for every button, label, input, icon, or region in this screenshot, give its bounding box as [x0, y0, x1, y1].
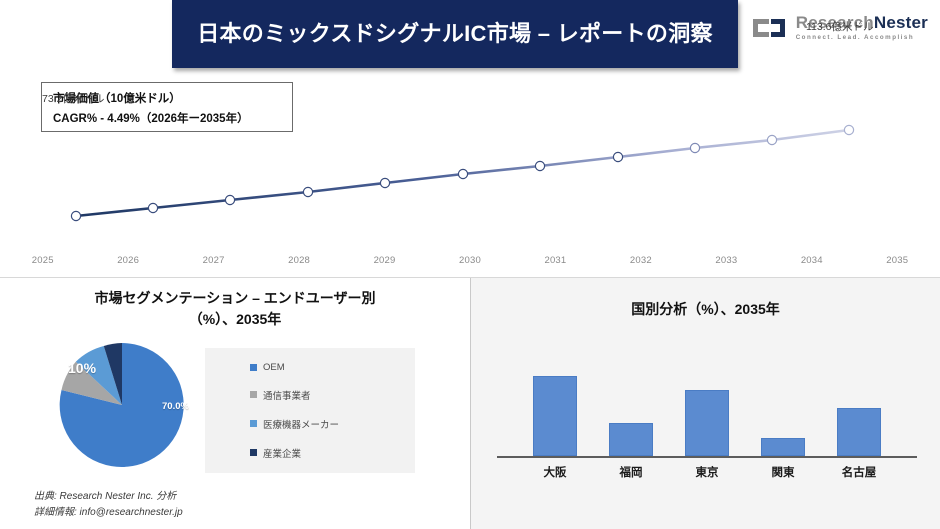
segmentation-title-line1: 市場セグメンテーション – エンドユーザー別: [30, 288, 440, 309]
bar-chart-baseline: [497, 456, 917, 458]
legend-swatch-icon: [250, 364, 257, 371]
pie-label-oem: 70.0%: [162, 401, 189, 412]
axis-year: 2033: [684, 255, 769, 266]
legend-label: 通信事業者: [263, 388, 311, 402]
line-markers: [71, 125, 853, 220]
bar-label: 大阪: [532, 464, 578, 480]
legend-item-industrial[interactable]: 産業企業: [250, 446, 415, 460]
segmentation-title: 市場セグメンテーション – エンドユーザー別 （%）、2035年: [0, 278, 470, 330]
logo-tagline: Connect. Lead. Accomplish: [796, 34, 928, 41]
axis-year: 2032: [598, 255, 683, 266]
country-analysis-panel: 国別分析（%）、2035年 大阪 福岡 東京 関東 名古屋: [471, 278, 940, 529]
axis-year: 2034: [769, 255, 854, 266]
line-chart-x-axis: 2025 2026 2027 2028 2029 2030 2031 2032 …: [0, 255, 940, 266]
end-user-pie-chart: 70.0% 10%: [42, 338, 202, 473]
bar-tokyo: [685, 390, 729, 456]
footer-contact-line: 詳細情報: info@researchnester.jp: [34, 505, 183, 521]
axis-year: 2027: [171, 255, 256, 266]
country-analysis-title: 国別分析（%）、2035年: [471, 278, 940, 319]
bar-fukuoka: [609, 423, 653, 456]
bar-column: [760, 438, 806, 456]
axis-year: 2026: [85, 255, 170, 266]
pie-legend: OEM 通信事業者 医療機器メーカー 産業企業: [205, 348, 415, 473]
bar-label: 東京: [684, 464, 730, 480]
legend-item-medical[interactable]: 医療機器メーカー: [250, 417, 415, 431]
bar-column: [532, 376, 578, 456]
logo-word-nester: Nester: [874, 13, 928, 32]
page-title: 日本のミックスドシグナルIC市場 – レポートの洞察: [183, 20, 727, 49]
legend-swatch-icon: [250, 449, 257, 456]
line-end-value-label: 113.6億米ドル: [806, 19, 874, 34]
legend-swatch-icon: [250, 391, 257, 398]
bar-column: [608, 423, 654, 456]
bar-chart-x-axis: 大阪 福岡 東京 関東 名古屋: [517, 464, 897, 480]
axis-year: 2028: [256, 255, 341, 266]
footer-source-line: 出典: Research Nester Inc. 分析: [34, 489, 183, 505]
bar-column: [684, 390, 730, 456]
footer-source: 出典: Research Nester Inc. 分析 詳細情報: info@r…: [34, 489, 183, 520]
legend-label: 産業企業: [263, 446, 301, 460]
header-banner: 日本のミックスドシグナルIC市場 – レポートの洞察: [172, 0, 738, 68]
axis-year: 2035: [855, 255, 940, 266]
logo-mark-icon: [749, 15, 789, 41]
line-start-value-label: 73.2億米ドル: [42, 91, 104, 106]
market-forecast-line-chart: [0, 100, 940, 250]
bar-kanto: [761, 438, 805, 456]
pie-label-medical: 10%: [68, 360, 96, 376]
legend-item-oem[interactable]: OEM: [250, 362, 415, 373]
bar-label: 名古屋: [836, 464, 882, 480]
bar-osaka: [533, 376, 577, 456]
bar-label: 福岡: [608, 464, 654, 480]
bar-column: [836, 408, 882, 456]
segmentation-title-line2: （%）、2035年: [30, 309, 440, 330]
legend-label: OEM: [263, 362, 285, 373]
axis-year: 2025: [0, 255, 85, 266]
bar-label: 関東: [760, 464, 806, 480]
country-bar-chart: [517, 374, 897, 456]
axis-year: 2029: [342, 255, 427, 266]
legend-label: 医療機器メーカー: [263, 417, 339, 431]
legend-item-telecom[interactable]: 通信事業者: [250, 388, 415, 402]
legend-swatch-icon: [250, 420, 257, 427]
axis-year: 2031: [513, 255, 598, 266]
line-chart-svg: [0, 100, 940, 250]
axis-year: 2030: [427, 255, 512, 266]
bar-nagoya: [837, 408, 881, 456]
